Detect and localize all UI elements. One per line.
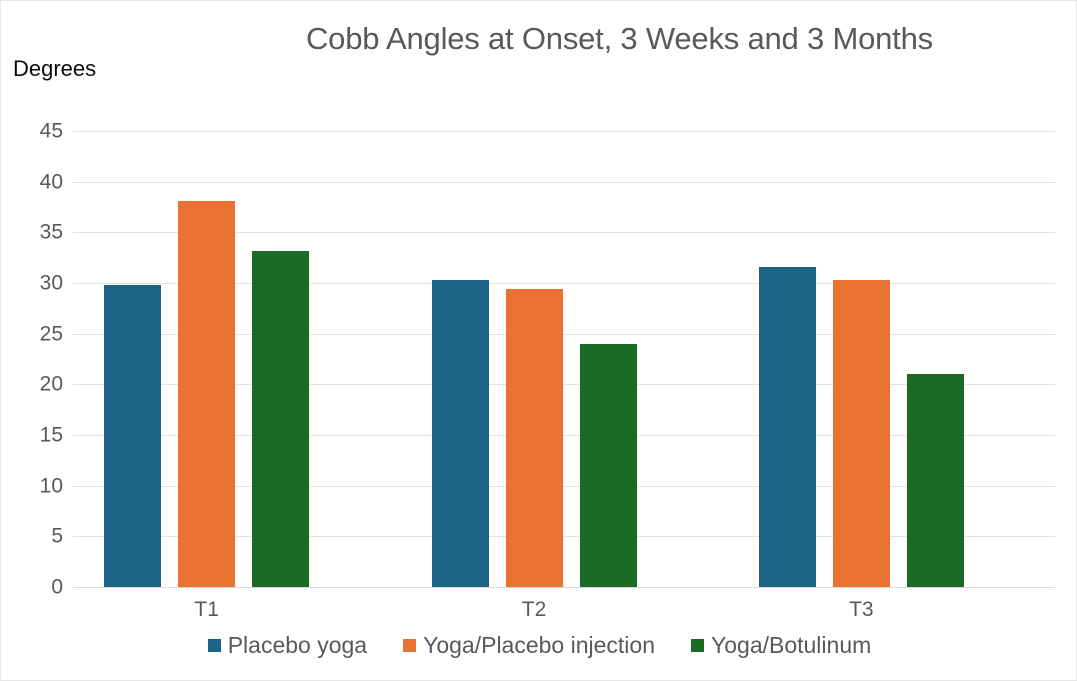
bar-T3-yoga-placebo-injection[interactable] [833, 280, 890, 587]
legend-item-yoga-botulinum[interactable]: Yoga/Botulinum [691, 632, 871, 658]
chart-container: Cobb Angles at Onset, 3 Weeks and 3 Mont… [0, 0, 1077, 681]
y-axis-title: Degrees [13, 54, 96, 84]
legend-swatch-icon [403, 639, 416, 652]
y-tick-label-20: 20 [11, 374, 63, 395]
gridline-45 [73, 131, 1055, 132]
bar-T1-placebo-yoga[interactable] [104, 285, 161, 587]
legend-item-placebo-yoga[interactable]: Placebo yoga [208, 632, 367, 658]
bar-T3-placebo-yoga[interactable] [759, 267, 816, 587]
y-tick-label-35: 35 [11, 222, 63, 243]
bar-T1-yoga-botulinum[interactable] [252, 251, 309, 587]
bar-T1-yoga-placebo-injection[interactable] [178, 201, 235, 587]
y-tick-label-5: 5 [11, 526, 63, 547]
legend-label: Yoga/Botulinum [711, 632, 871, 658]
legend-item-yoga-placebo-injection[interactable]: Yoga/Placebo injection [403, 632, 655, 658]
y-tick-label-30: 30 [11, 273, 63, 294]
legend-swatch-icon [208, 639, 221, 652]
chart-title: Cobb Angles at Onset, 3 Weeks and 3 Mont… [306, 18, 1066, 60]
y-tick-label-25: 25 [11, 323, 63, 344]
y-tick-label-10: 10 [11, 475, 63, 496]
gridline-40 [73, 182, 1055, 183]
legend-swatch-icon [691, 639, 704, 652]
gridline-0 [73, 587, 1055, 588]
legend-label: Yoga/Placebo injection [423, 632, 655, 658]
x-tick-label-T2: T2 [522, 596, 547, 624]
x-tick-label-T3: T3 [849, 596, 874, 624]
bar-T3-yoga-botulinum[interactable] [907, 374, 964, 587]
x-tick-label-T1: T1 [194, 596, 219, 624]
y-axis-tick-labels: 454035302520151050 [1, 131, 63, 587]
y-tick-label-40: 40 [11, 171, 63, 192]
y-tick-label-45: 45 [11, 121, 63, 142]
chart-legend: Placebo yogaYoga/Placebo injectionYoga/B… [1, 629, 1077, 661]
y-tick-label-0: 0 [11, 577, 63, 598]
legend-label: Placebo yoga [228, 632, 367, 658]
x-axis-tick-labels: T1T2T3 [73, 596, 1055, 626]
y-tick-label-15: 15 [11, 425, 63, 446]
bar-T2-yoga-placebo-injection[interactable] [506, 289, 563, 587]
bar-T2-yoga-botulinum[interactable] [580, 344, 637, 587]
bar-T2-placebo-yoga[interactable] [432, 280, 489, 587]
plot-area [73, 131, 1055, 587]
